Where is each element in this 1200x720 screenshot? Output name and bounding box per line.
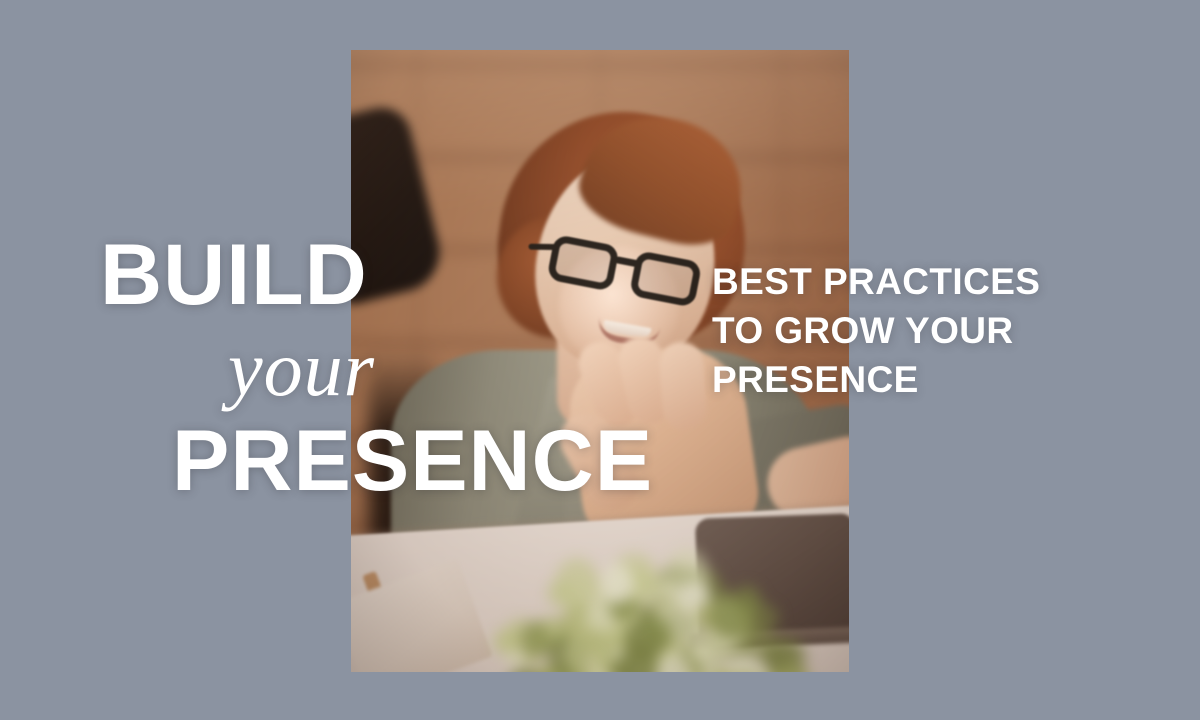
subheading-line-1: BEST PRACTICES xyxy=(712,258,1112,307)
plant-leaf xyxy=(710,600,753,639)
plant-leaf xyxy=(547,580,574,606)
headline-line-presence: PRESENCE xyxy=(172,418,653,504)
finger xyxy=(658,341,708,432)
plant-leaf xyxy=(520,621,551,657)
plant-leaf xyxy=(601,564,634,604)
headline-line-build: BUILD xyxy=(100,232,368,318)
poster-canvas: BUILD your PRESENCE BEST PRACTICES TO GR… xyxy=(0,0,1200,720)
glasses-temple xyxy=(528,244,556,250)
lens-right xyxy=(629,250,703,308)
potted-plant xyxy=(497,542,807,672)
subheading-line-2: TO GROW YOUR xyxy=(712,307,1112,356)
subheading-line-3: PRESENCE xyxy=(712,356,1112,405)
glasses-bridge xyxy=(615,256,640,267)
plant-leaf xyxy=(565,626,612,672)
subheading-block: BEST PRACTICES TO GROW YOUR PRESENCE xyxy=(712,258,1112,404)
plant-leaf xyxy=(643,617,672,644)
headline-line-your: your xyxy=(228,330,375,408)
lens-left xyxy=(546,234,620,292)
